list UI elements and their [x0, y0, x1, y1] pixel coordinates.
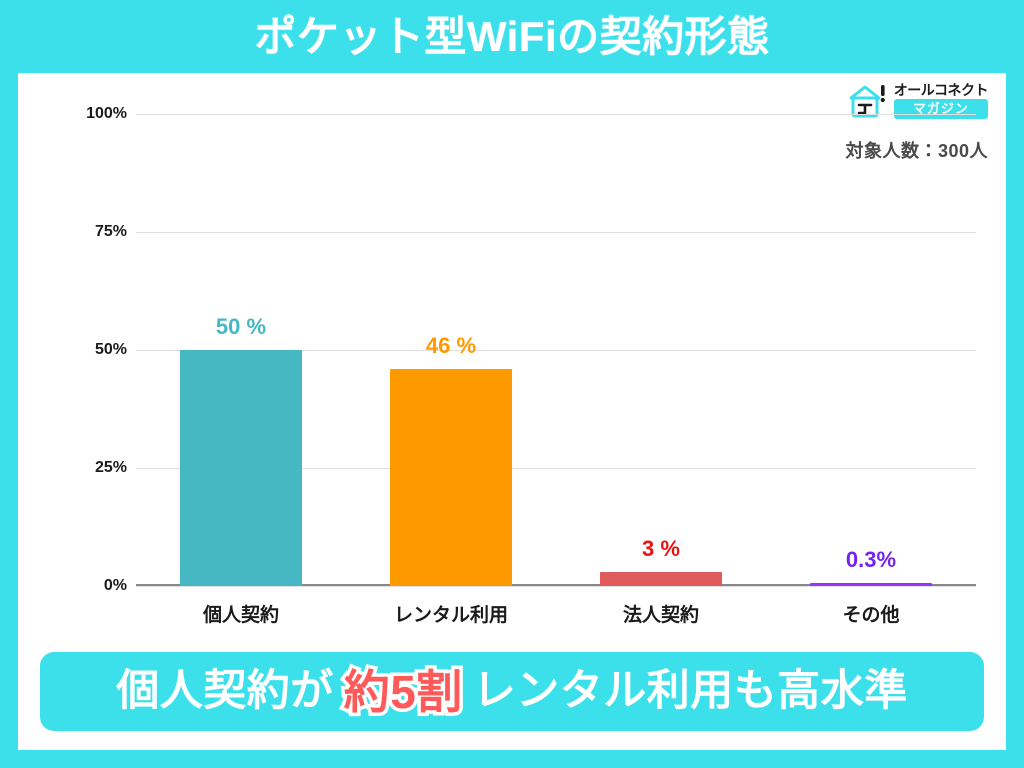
y-axis-tick-label: 25%: [95, 459, 127, 477]
caption-highlight: 約5割: [344, 669, 463, 715]
bar[interactable]: [180, 350, 302, 586]
bar-group: 3 %法人契約: [556, 114, 766, 586]
y-axis-tick-label: 75%: [95, 223, 127, 241]
y-axis-tick-label: 100%: [86, 105, 127, 123]
caption-lead: 個人契約が: [116, 670, 334, 713]
bar-group: 0.3%その他: [766, 114, 976, 586]
caption-pill: 個人契約が 約5割 レンタル利用も高水準: [40, 652, 984, 731]
y-axis-tick-label: 50%: [95, 341, 127, 359]
bar-group: 46 %レンタル利用: [346, 114, 556, 586]
bar-value-label: 50 %: [216, 314, 266, 340]
title-band: ポケット型WiFiの契約形態: [0, 0, 1024, 73]
page-title: ポケット型WiFiの契約形態: [254, 16, 769, 58]
x-axis-category-label: 法人契約: [623, 600, 699, 627]
bar-group: 50 %個人契約: [136, 114, 346, 586]
bar-value-label: 3 %: [642, 536, 680, 562]
x-axis-category-label: レンタル利用: [394, 600, 508, 627]
caption-tail: レンタル利用も高水準: [473, 670, 908, 713]
chart-card: オールコネクト マガジン 対象人数：300人 0%25%50%75%100% 5…: [18, 73, 1006, 635]
x-axis-category-label: その他: [842, 600, 899, 627]
caption-card: 個人契約が 約5割 レンタル利用も高水準: [18, 635, 1006, 750]
logo-brand-text: オールコネクト: [894, 83, 988, 97]
bar[interactable]: [600, 572, 722, 586]
bar[interactable]: [810, 583, 932, 586]
plot-area: 0%25%50%75%100% 50 %個人契約46 %レンタル利用3 %法人契…: [136, 114, 976, 586]
y-axis-tick-label: 0%: [104, 577, 127, 595]
bar-series: 50 %個人契約46 %レンタル利用3 %法人契約0.3%その他: [136, 114, 976, 586]
gridline: 0%: [136, 586, 976, 587]
bar-value-label: 0.3%: [846, 547, 896, 573]
bar-value-label: 46 %: [426, 333, 476, 359]
x-axis-category-label: 個人契約: [203, 600, 279, 627]
bar[interactable]: [390, 369, 512, 586]
infographic-poster: ポケット型WiFiの契約形態 オールコネクト マガジン 対象人数：300人: [0, 0, 1024, 768]
